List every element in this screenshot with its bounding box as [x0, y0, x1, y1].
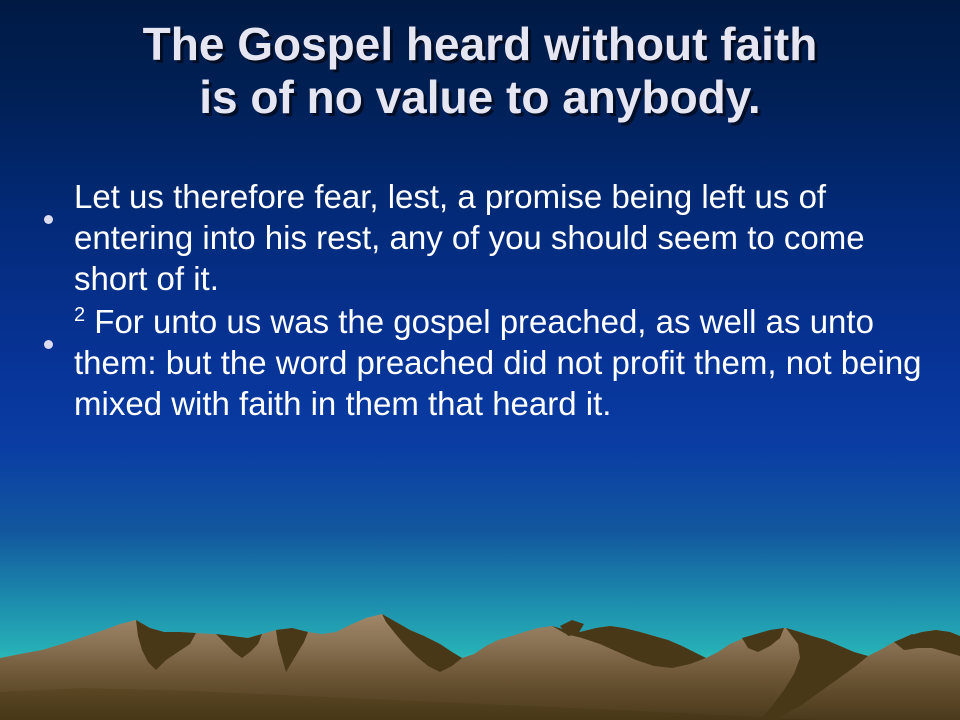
slide-body: Let us therefore fear, lest, a promise b…: [44, 176, 924, 426]
slide-title: The Gospel heard without faith is of no …: [40, 18, 920, 124]
bullet-dot-icon: [44, 301, 74, 358]
bullet-dot-icon: [44, 176, 74, 233]
list-item: 2 For unto us was the gospel preached, a…: [44, 301, 924, 424]
bullet-body: Let us therefore fear, lest, a promise b…: [74, 178, 865, 297]
bullet-text: Let us therefore fear, lest, a promise b…: [74, 176, 924, 299]
presentation-slide: The Gospel heard without faith is of no …: [0, 0, 960, 720]
bullet-body: For unto us was the gospel preached, as …: [74, 303, 922, 422]
list-item: Let us therefore fear, lest, a promise b…: [44, 176, 924, 299]
bullet-text: 2 For unto us was the gospel preached, a…: [74, 301, 924, 424]
mountain-range-landscape: [0, 540, 960, 720]
verse-superscript: 2: [74, 304, 85, 326]
